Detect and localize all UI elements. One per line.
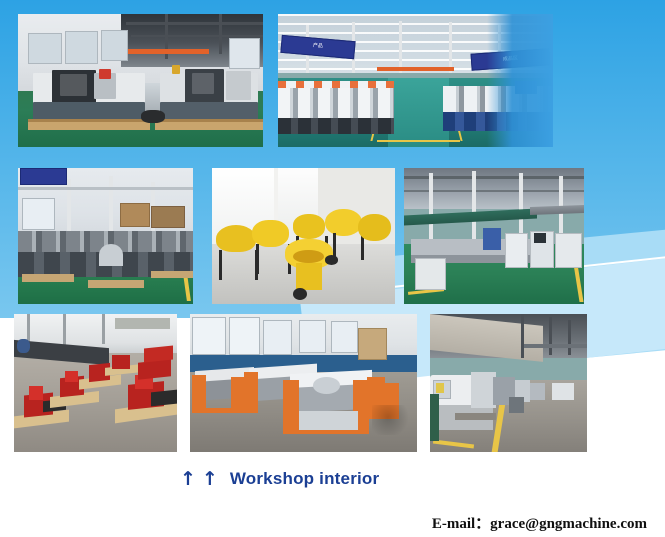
photo-assembly-line-green-canopy (404, 168, 584, 304)
photo-grey-machines-on-pallets (18, 168, 193, 304)
photo-cnc-lathes-on-pallets (18, 14, 263, 147)
banner-wall-sign (20, 168, 68, 185)
photo-cnc-lathe-production-row (430, 314, 587, 452)
slide-canvas: 产品 成品区 (0, 0, 665, 537)
photo-gallery: 产品 成品区 (0, 0, 665, 537)
caption-workshop-interior: ↑ ↑ Workshop interior (180, 466, 510, 492)
arrow-up-icon-left: ↑ (180, 470, 196, 489)
arrow-up-icon-right: ↑ (202, 470, 218, 489)
caption-text: Workshop interior (230, 469, 380, 489)
photo-yellow-concrete-mixers (212, 168, 395, 304)
photo-blue-fade-overlay (487, 14, 553, 147)
photo-assembly-hall-rows-of-machines: 产品 成品区 (278, 14, 553, 147)
photo-red-machines-on-pallets (14, 314, 177, 452)
contact-email: E-mail：grace@gngmachine.com (432, 512, 647, 533)
photo-orange-woodworking-machines (190, 314, 417, 452)
